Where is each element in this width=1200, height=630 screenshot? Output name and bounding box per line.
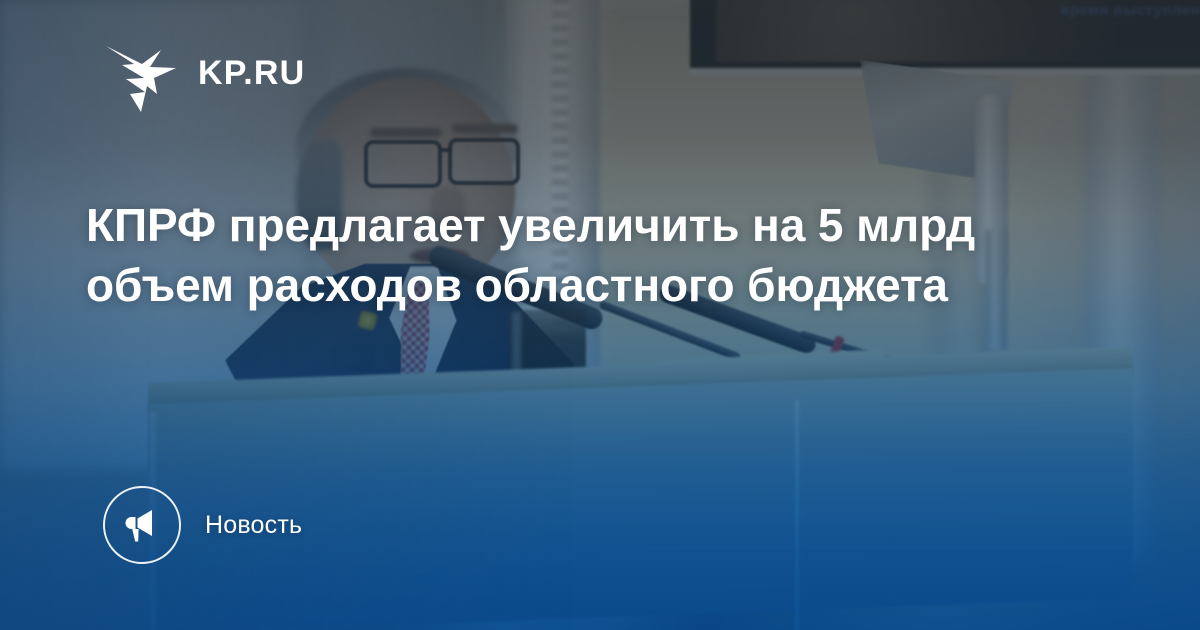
brand-name: KP.RU	[198, 56, 305, 90]
brand-lockup[interactable]: KP.RU	[104, 34, 305, 112]
social-share-card: время выступления	[0, 0, 1200, 630]
card-content: KP.RU КПРФ предлагает увеличить на 5 млр…	[0, 0, 1200, 630]
page-title: КПРФ предлагает увеличить на 5 млрд объе…	[86, 196, 1086, 316]
kicker-label: Новость	[205, 513, 302, 538]
megaphone-icon	[103, 486, 181, 564]
swallow-bird-icon	[104, 34, 180, 112]
kicker-row[interactable]: Новость	[103, 486, 302, 564]
